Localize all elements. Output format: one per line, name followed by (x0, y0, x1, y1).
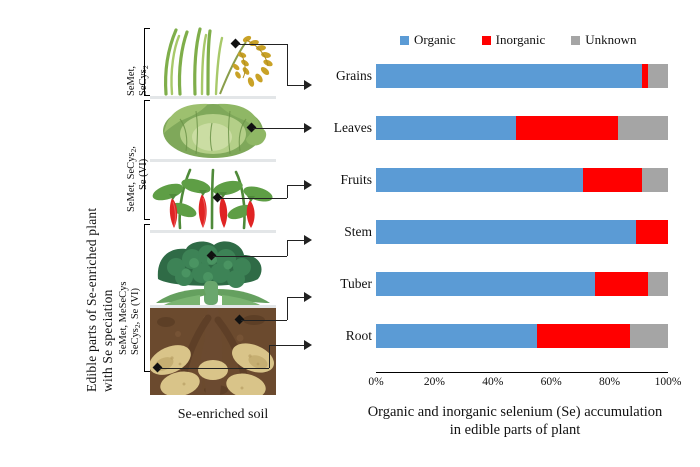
bar-segment-fruits-unknown[interactable] (642, 168, 668, 192)
bar-segment-leaves-inorganic[interactable] (516, 116, 618, 140)
legend-swatch-icon (571, 36, 580, 45)
vertical-title-line2: with Se speciation (100, 289, 116, 392)
bar-segment-leaves-organic[interactable] (376, 116, 516, 140)
x-tick-label-100: 100% (655, 376, 682, 388)
legend-label: Inorganic (496, 32, 546, 48)
speciation-label-leavesfruits-line1: SeMet, SeCys2, (126, 146, 137, 212)
rice-grain-plant-image (150, 22, 276, 99)
bar-category-label-tuber: Tuber (302, 272, 372, 296)
broccoli-icon (150, 233, 276, 305)
x-tick-label-40: 40% (482, 376, 503, 388)
speciation-text: SeMet, SeCys (126, 152, 137, 212)
plot-area: GrainsLeavesFruitsStemTuberRoot (376, 62, 668, 367)
bar-row-tuber[interactable] (376, 272, 668, 296)
speciation-label-stemroot-line1: SeMet, MeSeCys (118, 282, 129, 356)
legend-item-unknown[interactable]: Unknown (571, 32, 636, 48)
potato-root-tuber-image (150, 308, 276, 395)
x-tick-label-60: 60% (541, 376, 562, 388)
speciation-text-tail: , Se (VI) (130, 288, 141, 324)
leader-line-grains-v (287, 44, 288, 85)
rice-grain-icon (150, 22, 276, 96)
cabbage-leaves-plant-image (150, 99, 276, 162)
bar-row-grains[interactable] (376, 64, 668, 88)
bar-row-fruits[interactable] (376, 168, 668, 192)
chart-legend: OrganicInorganicUnknown (400, 32, 690, 48)
bar-category-label-stem: Stem (302, 220, 372, 244)
soil-caption: Se-enriched soil (128, 407, 318, 423)
bar-segment-stem-inorganic[interactable] (636, 220, 668, 244)
broccoli-stem-plant-image (150, 233, 276, 308)
bar-segment-tuber-unknown[interactable] (648, 272, 668, 296)
bar-segment-tuber-organic[interactable] (376, 272, 595, 296)
leader-line-root-h1 (159, 368, 269, 369)
bar-row-root[interactable] (376, 324, 668, 348)
legend-label: Unknown (585, 32, 636, 48)
x-tick-label-80: 80% (599, 376, 620, 388)
bar-row-leaves[interactable] (376, 116, 668, 140)
legend-swatch-icon (400, 36, 409, 45)
bar-segment-fruits-inorganic[interactable] (583, 168, 641, 192)
legend-item-inorganic[interactable]: Inorganic (482, 32, 546, 48)
speciation-label-grains-line1: SeMet, (126, 66, 137, 96)
speciation-subscript: 2 (129, 149, 138, 153)
leader-line-grains-h1 (237, 44, 287, 45)
leader-line-leaves (253, 128, 304, 129)
bar-segment-grains-organic[interactable] (376, 64, 642, 88)
speciation-label-stemroot-line2: SeCys2, Se (VI) (130, 288, 141, 355)
leader-line-root-h2 (269, 345, 304, 346)
leader-line-root-v (269, 345, 270, 368)
bar-category-label-root: Root (302, 324, 372, 348)
chart-caption: Organic and inorganic selenium (Se) accu… (328, 404, 700, 439)
figure-root: Edible parts of Se-enriched plant with S… (0, 0, 700, 467)
bar-segment-fruits-organic[interactable] (376, 168, 583, 192)
x-axis-line (376, 372, 668, 373)
leader-line-fruits-h1 (219, 198, 287, 199)
bar-segment-grains-unknown[interactable] (648, 64, 668, 88)
bar-category-label-grains: Grains (302, 64, 372, 88)
speciation-text: SeMet, (126, 66, 137, 96)
legend-label: Organic (414, 32, 456, 48)
leader-line-tuber-h2 (287, 297, 304, 298)
bar-row-stem[interactable] (376, 220, 668, 244)
bar-segment-root-unknown[interactable] (630, 324, 668, 348)
bar-segment-tuber-inorganic[interactable] (595, 272, 648, 296)
legend-item-organic[interactable]: Organic (400, 32, 456, 48)
leader-line-tuber-v (287, 297, 288, 320)
speciation-text: SeMet, MeSeCys (118, 282, 129, 356)
chart-caption-line2: in edible parts of plant (328, 422, 700, 440)
x-axis-ticks: 0%20%40%60%80%100% (376, 376, 668, 396)
cabbage-icon (150, 99, 276, 159)
speciation-text: SeCys (130, 328, 141, 355)
bar-segment-root-organic[interactable] (376, 324, 537, 348)
bar-category-label-fruits: Fruits (302, 168, 372, 192)
leader-line-tuber-h1 (241, 320, 287, 321)
leader-line-fruits-v (287, 185, 288, 198)
potato-root-icon (150, 308, 276, 395)
chart-caption-line1: Organic and inorganic selenium (Se) accu… (328, 404, 700, 422)
bar-segment-stem-organic[interactable] (376, 220, 636, 244)
x-tick-label-20: 20% (424, 376, 445, 388)
leader-line-stem-h1 (213, 256, 287, 257)
leader-line-stem-v (287, 240, 288, 256)
stacked-bar-chart: OrganicInorganicUnknown GrainsLeavesFrui… (330, 0, 700, 467)
plant-illustration-stack (150, 22, 276, 395)
bar-segment-leaves-unknown[interactable] (618, 116, 668, 140)
vertical-title-line1: Edible parts of Se-enriched plant (84, 208, 100, 392)
bar-segment-root-inorganic[interactable] (537, 324, 630, 348)
left-illustration-panel: Edible parts of Se-enriched plant with S… (0, 0, 330, 467)
x-tick-label-0: 0% (368, 376, 383, 388)
speciation-subscript: 2 (133, 324, 142, 328)
legend-swatch-icon (482, 36, 491, 45)
bar-category-label-leaves: Leaves (302, 116, 372, 140)
